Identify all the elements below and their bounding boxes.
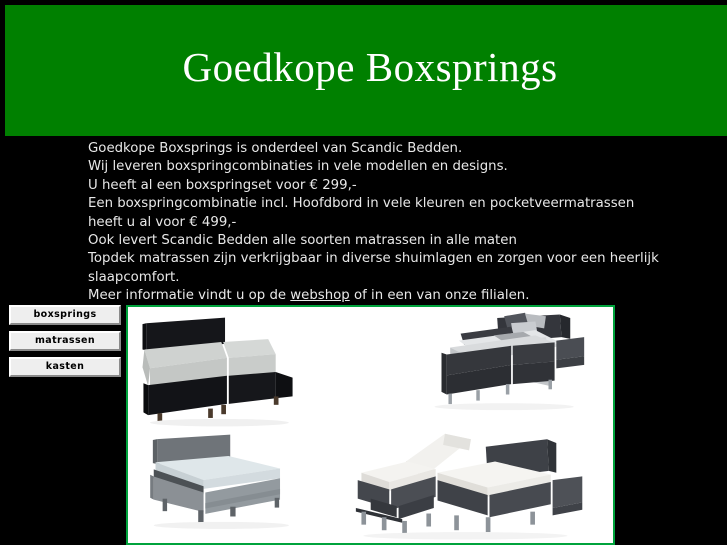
intro-line-5: heeft u al voor € 499,- [88,214,688,232]
site-header: Goedkope Boxsprings [5,5,727,136]
sidebar-item-matrassen[interactable]: matrassen [9,331,121,351]
sidebar-item-boxsprings[interactable]: boxsprings [9,305,121,325]
intro-line-9: Meer informatie vindt u op de webshop of… [88,287,688,305]
gallery-inner [130,309,611,541]
intro-line-8: slaapcomfort. [88,269,688,287]
adjustable-boxspring-bed-photo[interactable] [332,430,606,541]
product-gallery [126,305,615,545]
intro-paragraph: Goedkope Boxsprings is onderdeel van Sca… [88,140,688,306]
intro-line-3: U heeft al een boxspringset voor € 299,- [88,177,688,195]
sidebar-item-kasten[interactable]: kasten [9,357,121,377]
intro-line-2: Wij leveren boxspringcombinaties in vele… [88,158,688,176]
intro-line-9-prefix: Meer informatie vindt u op de [88,288,290,303]
intro-line-6: Ook levert Scandic Bedden alle soorten m… [88,232,688,250]
dressed-boxspring-bed-photo[interactable] [404,311,606,415]
black-boxspring-bed-svg [135,314,323,430]
intro-line-9-suffix: of in een van onze filialen. [350,288,530,303]
page-title: Goedkope Boxsprings [5,41,727,93]
adjustable-boxspring-bed-svg [332,430,606,541]
black-boxspring-bed-photo[interactable] [135,314,323,430]
sidebar-nav: boxsprings matrassen kasten [9,305,121,383]
grey-boxspring-bed-svg [140,432,328,539]
intro-line-7: Topdek matrassen zijn verkrijgbaar in di… [88,250,688,268]
intro-line-4: Een boxspringcombinatie incl. Hoofdbord … [88,195,688,213]
dressed-boxspring-bed-svg [404,311,606,415]
webshop-link[interactable]: webshop [290,288,349,303]
grey-boxspring-bed-photo[interactable] [140,432,328,539]
intro-line-1: Goedkope Boxsprings is onderdeel van Sca… [88,140,688,158]
